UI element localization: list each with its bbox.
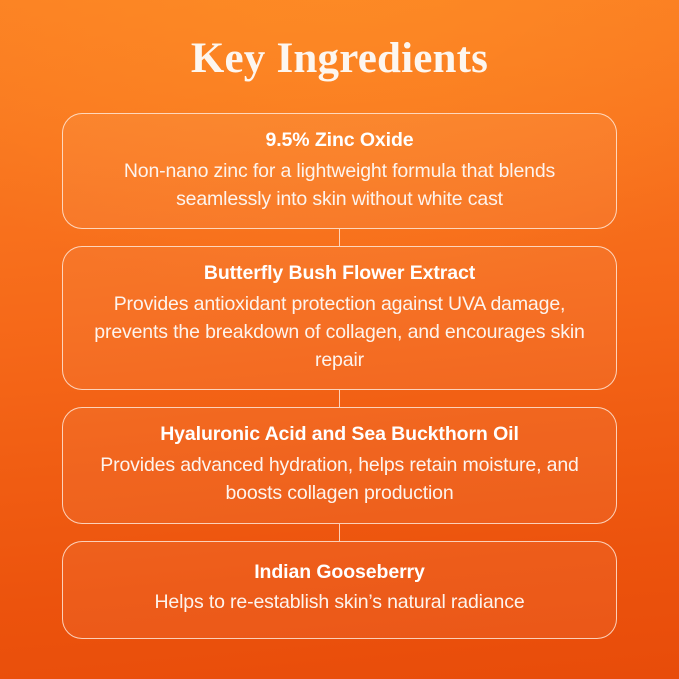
ingredient-card-body: Non-nano zinc for a lightweight formula …: [83, 158, 596, 213]
ingredient-card-butterfly-bush-flower-extract[interactable]: Butterfly Bush Flower Extract Provides a…: [62, 246, 617, 390]
ingredient-card-heading: Indian Gooseberry: [83, 559, 596, 586]
ingredient-card-body: Provides advanced hydration, helps retai…: [83, 452, 596, 507]
ingredient-card-heading: Butterfly Bush Flower Extract: [83, 260, 596, 287]
ingredient-card-hyaluronic-acid-sea-buckthorn-oil[interactable]: Hyaluronic Acid and Sea Buckthorn Oil Pr…: [62, 407, 617, 523]
key-ingredients-poster: Key Ingredients 9.5% Zinc Oxide Non-nano…: [0, 0, 679, 679]
ingredient-card-heading: 9.5% Zinc Oxide: [83, 127, 596, 154]
ingredient-card-body: Provides antioxidant protection against …: [83, 291, 596, 374]
ingredient-card-wrapper-1: 9.5% Zinc Oxide Non-nano zinc for a ligh…: [62, 113, 617, 229]
ingredient-card-heading: Hyaluronic Acid and Sea Buckthorn Oil: [83, 421, 596, 448]
ingredient-card-wrapper-4: Indian Gooseberry Helps to re-establish …: [62, 541, 617, 640]
card-connector-line-3: [339, 524, 340, 541]
ingredient-card-wrapper-2: Butterfly Bush Flower Extract Provides a…: [62, 246, 617, 390]
page-title: Key Ingredients: [0, 34, 679, 83]
ingredient-card-zinc-oxide[interactable]: 9.5% Zinc Oxide Non-nano zinc for a ligh…: [62, 113, 617, 229]
ingredient-card-indian-gooseberry[interactable]: Indian Gooseberry Helps to re-establish …: [62, 541, 617, 640]
ingredient-card-list: 9.5% Zinc Oxide Non-nano zinc for a ligh…: [62, 113, 617, 639]
card-connector-line-1: [339, 229, 340, 246]
ingredient-card-body: Helps to re-establish skin’s natural rad…: [83, 589, 596, 617]
ingredient-card-wrapper-3: Hyaluronic Acid and Sea Buckthorn Oil Pr…: [62, 407, 617, 523]
card-connector-line-2: [339, 390, 340, 407]
